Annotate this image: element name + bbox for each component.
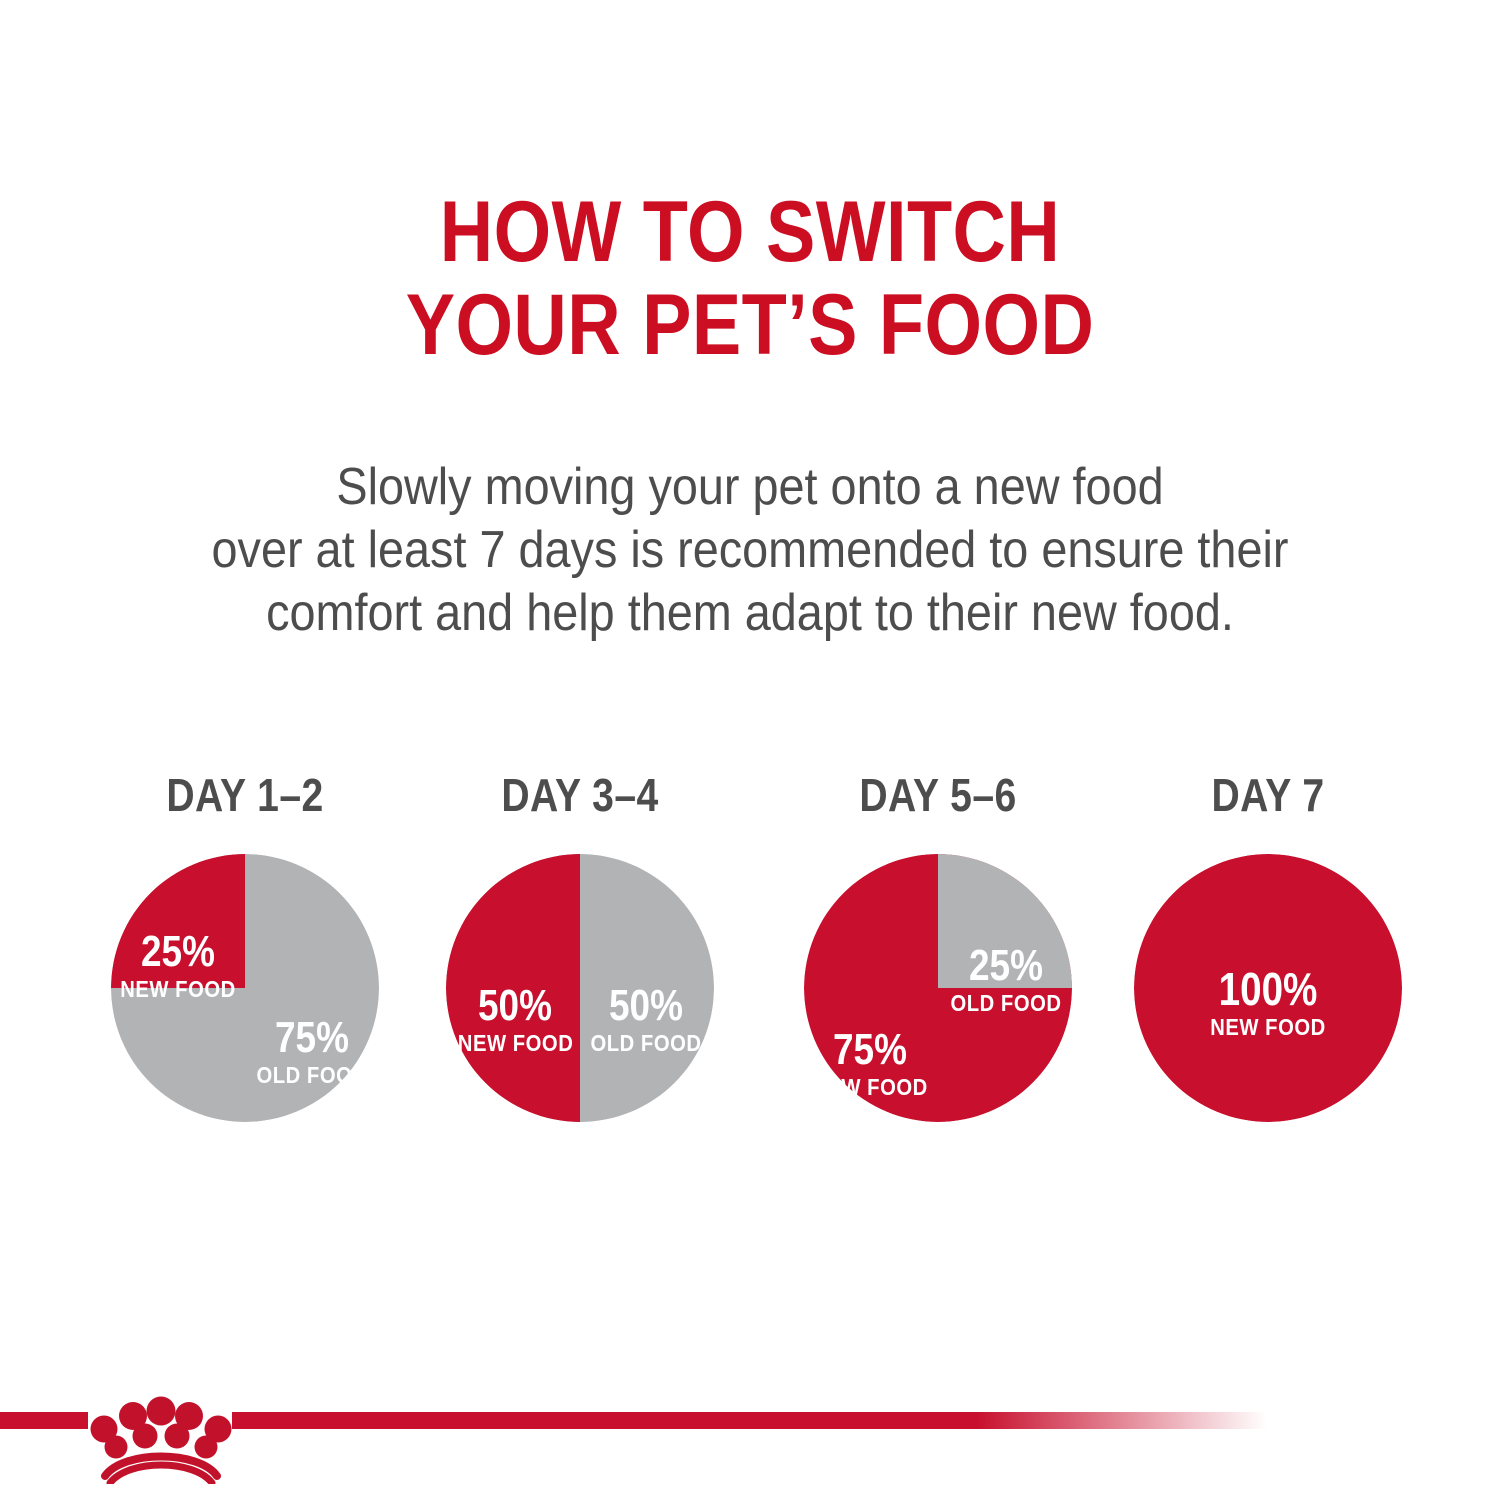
crown-icon	[88, 1384, 234, 1484]
pie-chart-day-7	[1134, 854, 1402, 1122]
pie-group-day-5-6: DAY 5–6 25% OLD FOOD 75% NEW FOOD	[768, 770, 1108, 1170]
intro-paragraph: Slowly moving your pet onto a new food o…	[0, 456, 1500, 645]
pie-chart-day-3-4	[446, 854, 714, 1122]
pie-group-day-1-2: DAY 1–2 25% NEW FOOD 75% OLD FOOD	[75, 770, 415, 1170]
day-label-3-4: DAY 3–4	[436, 770, 725, 820]
pie-slice-old-food	[938, 854, 1072, 988]
crown-arc-inner	[110, 1465, 212, 1483]
day-label-1-2: DAY 1–2	[101, 770, 390, 820]
pie-svg-day-1-2	[111, 854, 379, 1122]
title-line-2: YOUR PET’S FOOD	[105, 279, 1395, 372]
page-title: HOW TO SWITCH YOUR PET’S FOOD	[0, 186, 1500, 372]
title-line-1: HOW TO SWITCH	[105, 186, 1395, 279]
pie-group-day-3-4: DAY 3–4 50% NEW FOOD 50% OLD FOOD	[410, 770, 750, 1170]
transition-schedule-charts: DAY 1–2 25% NEW FOOD 75% OLD FOOD DAY 3–…	[0, 770, 1500, 1170]
royal-canin-crown-logo	[88, 1384, 234, 1484]
pie-svg-day-7	[1134, 854, 1402, 1122]
pie-svg-day-5-6	[804, 854, 1072, 1122]
pie-slice-new-food	[1134, 854, 1402, 1122]
pie-group-day-7: DAY 7 100% NEW FOOD	[1098, 770, 1438, 1170]
pie-svg-day-3-4	[446, 854, 714, 1122]
footer-rule-right	[232, 1412, 1267, 1429]
intro-line-2: over at least 7 days is recommended to e…	[75, 519, 1425, 582]
pie-chart-day-1-2	[111, 854, 379, 1122]
footer-brand-bar	[0, 1400, 1500, 1500]
footer-rule-left	[0, 1412, 88, 1429]
pie-chart-day-5-6	[804, 854, 1072, 1122]
pie-slice-new-food	[446, 854, 580, 1122]
day-label-5-6: DAY 5–6	[794, 770, 1083, 820]
intro-line-1: Slowly moving your pet onto a new food	[75, 456, 1425, 519]
infographic-page: HOW TO SWITCH YOUR PET’S FOOD Slowly mov…	[0, 0, 1500, 1500]
day-label-7: DAY 7	[1124, 770, 1413, 820]
intro-line-3: comfort and help them adapt to their new…	[75, 582, 1425, 645]
pie-slice-new-food	[111, 854, 245, 988]
